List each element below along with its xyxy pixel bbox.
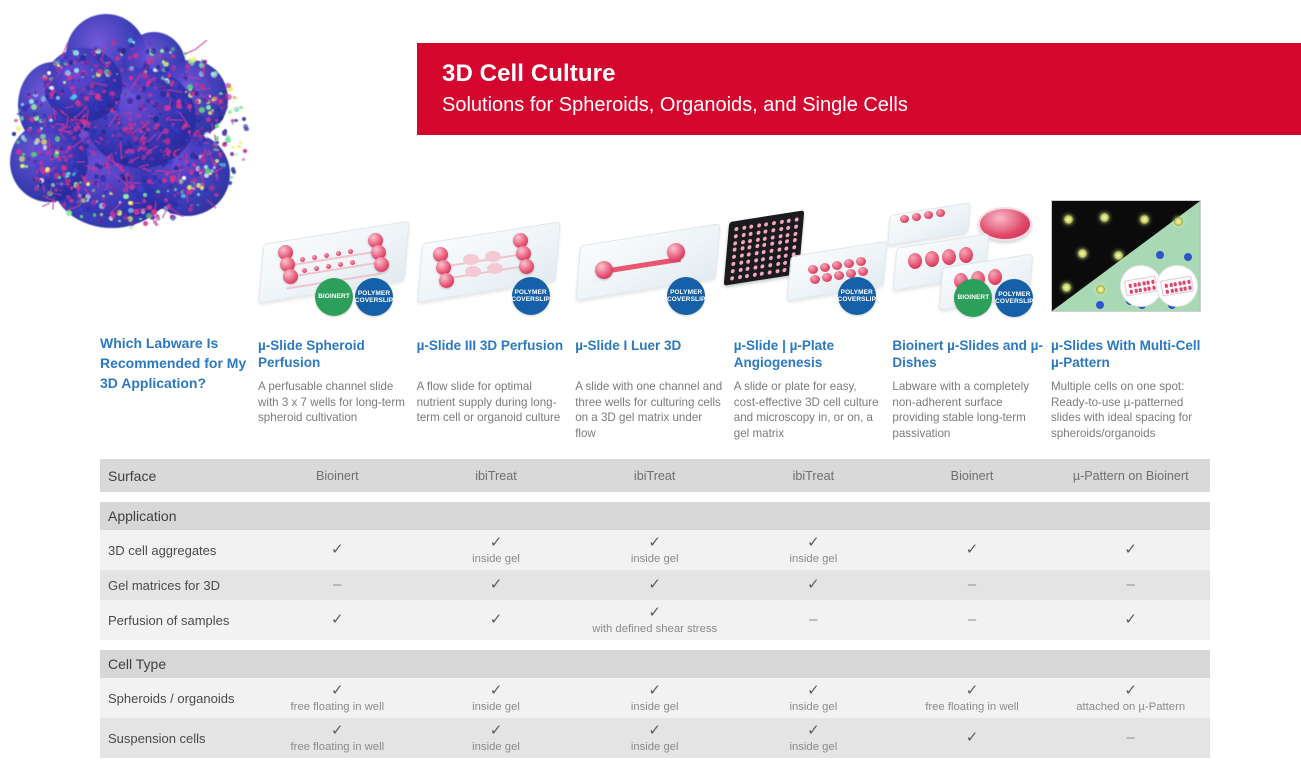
cell-note: inside gel xyxy=(734,740,893,754)
table-cell: ✓ xyxy=(417,577,576,593)
table-cell: ✓ xyxy=(417,612,576,628)
cell-checkmark: ✓ xyxy=(417,683,576,699)
cell-checkmark: ✓ xyxy=(893,730,1052,746)
column-slide-spheroid-perfusion[interactable]: BIOINERT POLYMERCOVERSLIP µ-Slide Sphero… xyxy=(258,195,417,455)
cell-checkmark: ✓ xyxy=(734,577,893,593)
cell-checkmark: ✓ xyxy=(734,535,893,551)
table-cell: ✓inside gel xyxy=(575,535,734,566)
table-row: Gel matrices for 3D–✓✓✓–– xyxy=(100,570,1210,600)
cell-checkmark: ✓ xyxy=(1051,612,1210,628)
table-cell: Bioinert xyxy=(893,469,1052,483)
cell-note: attached on µ-Pattern xyxy=(1051,700,1210,714)
badge-polymer-coverslip: POLYMERCOVERSLIP xyxy=(667,277,705,315)
table-cell: ✓inside gel xyxy=(734,683,893,714)
table-cell: – xyxy=(893,577,1052,593)
cell-checkmark: ✓ xyxy=(258,612,417,628)
table-section-header: Application xyxy=(100,502,1210,530)
table-cell: ✓with defined shear stress xyxy=(575,605,734,636)
cell-note: with defined shear stress xyxy=(575,622,734,636)
cell-dash: – xyxy=(1051,730,1210,746)
badge-polymer-coverslip: POLYMERCOVERSLIP xyxy=(995,279,1033,317)
comparison-table: SurfaceBioinertibiTreatibiTreatibiTreatB… xyxy=(100,459,1210,758)
product-description: A flow slide for optimal nutrient supply… xyxy=(417,379,567,426)
column-slide-i-luer-3d[interactable]: POLYMERCOVERSLIP µ-Slide I Luer 3D A sli… xyxy=(575,195,734,455)
cell-checkmark: ✓ xyxy=(258,723,417,739)
product-image-slide-i-luer: POLYMERCOVERSLIP xyxy=(575,195,750,330)
badge-bioinert: BIOINERT xyxy=(315,278,353,316)
badge-polymer-coverslip: POLYMERCOVERSLIP xyxy=(512,277,550,315)
row-label: Perfusion of samples xyxy=(100,613,258,628)
product-title: µ-Slide | µ-Plate Angiogenesis xyxy=(734,337,886,371)
column-multicell-pattern[interactable]: µ-Slides With Multi-Cell µ-Pattern Multi… xyxy=(1051,195,1210,455)
table-row: Perfusion of samples✓✓✓with defined shea… xyxy=(100,600,1210,640)
cell-dash: – xyxy=(893,612,1052,628)
cell-checkmark: ✓ xyxy=(893,542,1052,558)
table-row: Spheroids / organoids✓free floating in w… xyxy=(100,678,1210,718)
cell-checkmark: ✓ xyxy=(575,577,734,593)
product-title: µ-Slide I Luer 3D xyxy=(575,337,727,354)
cell-checkmark: ✓ xyxy=(258,683,417,699)
cell-checkmark: ✓ xyxy=(575,723,734,739)
table-row-surface: SurfaceBioinertibiTreatibiTreatibiTreatB… xyxy=(100,459,1210,492)
row-label: Gel matrices for 3D xyxy=(100,578,258,593)
hero-banner: 3D Cell Culture Solutions for Spheroids,… xyxy=(417,43,1301,135)
product-title: Bioinert µ-Slides and µ-Dishes xyxy=(892,337,1044,371)
cell-note: free floating in well xyxy=(258,700,417,714)
column-slide-plate-angiogenesis[interactable]: POLYMERCOVERSLIP µ-Slide | µ-Plate Angio… xyxy=(734,195,893,455)
cell-checkmark: ✓ xyxy=(1051,683,1210,699)
cell-checkmark: ✓ xyxy=(734,723,893,739)
table-cell: ✓inside gel xyxy=(734,723,893,754)
cell-checkmark: ✓ xyxy=(1051,542,1210,558)
cell-note: inside gel xyxy=(417,700,576,714)
cell-dash: – xyxy=(258,577,417,593)
table-cell: ✓free floating in well xyxy=(258,683,417,714)
cell-checkmark: ✓ xyxy=(417,612,576,628)
cell-note: inside gel xyxy=(734,552,893,566)
column-bioinert-slides-dishes[interactable]: BIOINERT POLYMERCOVERSLIP Bioinert µ-Sli… xyxy=(892,195,1051,455)
cell-note: free floating in well xyxy=(258,740,417,754)
table-cell: ✓inside gel xyxy=(575,723,734,754)
badge-polymer-label: POLYMERCOVERSLIP xyxy=(838,289,876,304)
badge-polymer-label: POLYMERCOVERSLIP xyxy=(667,289,705,304)
cell-dash: – xyxy=(1051,577,1210,593)
table-section-header: Cell Type xyxy=(100,650,1210,678)
banner-title: 3D Cell Culture xyxy=(442,59,1301,89)
cell-note: inside gel xyxy=(734,700,893,714)
row-label: Spheroids / organoids xyxy=(100,691,258,706)
table-cell: ✓inside gel xyxy=(417,723,576,754)
product-description: A slide with one channel and three wells… xyxy=(575,379,725,441)
table-cell: ✓inside gel xyxy=(417,535,576,566)
product-description: Multiple cells on one spot: Ready-to-use… xyxy=(1051,379,1201,441)
table-cell: ✓ xyxy=(893,730,1052,746)
table-cell: ✓ xyxy=(893,542,1052,558)
micropattern-inset-2 xyxy=(1156,265,1198,307)
section-label: Application xyxy=(100,508,258,524)
table-row: Suspension cells✓free floating in well✓i… xyxy=(100,718,1210,758)
product-description: A perfusable channel slide with 3 x 7 we… xyxy=(258,379,408,426)
table-cell: – xyxy=(258,577,417,593)
badge-polymer-label: POLYMERCOVERSLIP xyxy=(511,289,549,304)
cell-note: free floating in well xyxy=(893,700,1052,714)
cell-checkmark: ✓ xyxy=(258,542,417,558)
table-cell: ✓ xyxy=(258,542,417,558)
table-cell: ✓inside gel xyxy=(417,683,576,714)
cell-note: inside gel xyxy=(417,740,576,754)
column-question: Which Labware Is Recommended for My 3D A… xyxy=(100,195,258,455)
badge-polymer-coverslip: POLYMERCOVERSLIP xyxy=(355,278,393,316)
badge-polymer-label: POLYMERCOVERSLIP xyxy=(355,290,393,305)
cell-note: inside gel xyxy=(417,552,576,566)
product-image-slide-iii: POLYMERCOVERSLIP xyxy=(417,195,592,330)
table-cell: Bioinert xyxy=(258,469,417,483)
cell-checkmark: ✓ xyxy=(417,577,576,593)
cell-checkmark: ✓ xyxy=(575,535,734,551)
badge-bioinert: BIOINERT xyxy=(954,279,992,317)
product-description: Labware with a completely non-adherent s… xyxy=(892,379,1042,441)
product-columns: Which Labware Is Recommended for My 3D A… xyxy=(100,195,1210,455)
table-spacer xyxy=(100,640,1210,650)
table-cell: ✓inside gel xyxy=(734,535,893,566)
row-label: Suspension cells xyxy=(100,731,258,746)
badge-bioinert-label: BIOINERT xyxy=(318,293,350,301)
product-image-bioinert: BIOINERT POLYMERCOVERSLIP xyxy=(892,195,1067,330)
row-label: Surface xyxy=(100,468,258,484)
table-cell: ibiTreat xyxy=(575,469,734,483)
badge-bioinert-label: BIOINERT xyxy=(957,294,989,302)
cell-note: inside gel xyxy=(575,740,734,754)
table-cell: – xyxy=(1051,730,1210,746)
table-cell: ✓free floating in well xyxy=(893,683,1052,714)
cell-dash: – xyxy=(893,577,1052,593)
cell-note: inside gel xyxy=(575,700,734,714)
page-root: 3D Cell Culture Solutions for Spheroids,… xyxy=(0,0,1301,764)
cell-dash: – xyxy=(734,612,893,628)
cell-checkmark: ✓ xyxy=(575,605,734,621)
question-title: Which Labware Is Recommended for My 3D A… xyxy=(100,333,260,393)
table-row: 3D cell aggregates✓✓inside gel✓inside ge… xyxy=(100,530,1210,570)
banner-subtitle: Solutions for Spheroids, Organoids, and … xyxy=(442,91,1301,119)
product-description: A slide or plate for easy, cost-effectiv… xyxy=(734,379,884,441)
table-cell: ✓ xyxy=(1051,612,1210,628)
table-cell: ibiTreat xyxy=(734,469,893,483)
section-label: Cell Type xyxy=(100,656,258,672)
cell-checkmark: ✓ xyxy=(575,683,734,699)
table-cell: ibiTreat xyxy=(417,469,576,483)
table-cell: ✓attached on µ-Pattern xyxy=(1051,683,1210,714)
row-label: 3D cell aggregates xyxy=(100,543,258,558)
table-cell: – xyxy=(734,612,893,628)
cell-checkmark: ✓ xyxy=(417,723,576,739)
table-cell: ✓free floating in well xyxy=(258,723,417,754)
product-title: µ-Slides With Multi-Cell µ-Pattern xyxy=(1051,337,1203,371)
table-cell: ✓ xyxy=(734,577,893,593)
product-image-spheroid-perfusion: BIOINERT POLYMERCOVERSLIP xyxy=(258,195,433,330)
cell-checkmark: ✓ xyxy=(734,683,893,699)
cell-checkmark: ✓ xyxy=(893,683,1052,699)
table-cell: ✓inside gel xyxy=(575,683,734,714)
table-cell: ✓ xyxy=(575,577,734,593)
table-cell: µ-Pattern on Bioinert xyxy=(1051,469,1210,483)
table-cell: – xyxy=(1051,577,1210,593)
badge-polymer-coverslip: POLYMERCOVERSLIP xyxy=(838,277,876,315)
table-cell: – xyxy=(893,612,1052,628)
product-image-multicell-pattern xyxy=(1051,195,1226,330)
cell-note: inside gel xyxy=(575,552,734,566)
table-cell: ✓ xyxy=(1051,542,1210,558)
micropattern-micrograph xyxy=(1051,200,1201,312)
product-title: µ-Slide III 3D Perfusion xyxy=(417,337,569,354)
cell-checkmark: ✓ xyxy=(417,535,576,551)
table-cell: ✓ xyxy=(258,612,417,628)
product-title: µ-Slide Spheroid Perfusion xyxy=(258,337,410,371)
badge-polymer-label: POLYMERCOVERSLIP xyxy=(995,291,1033,306)
column-slide-iii-3d-perfusion[interactable]: POLYMERCOVERSLIP µ-Slide III 3D Perfusio… xyxy=(417,195,576,455)
table-spacer xyxy=(100,492,1210,502)
product-image-angiogenesis: POLYMERCOVERSLIP xyxy=(734,195,909,330)
